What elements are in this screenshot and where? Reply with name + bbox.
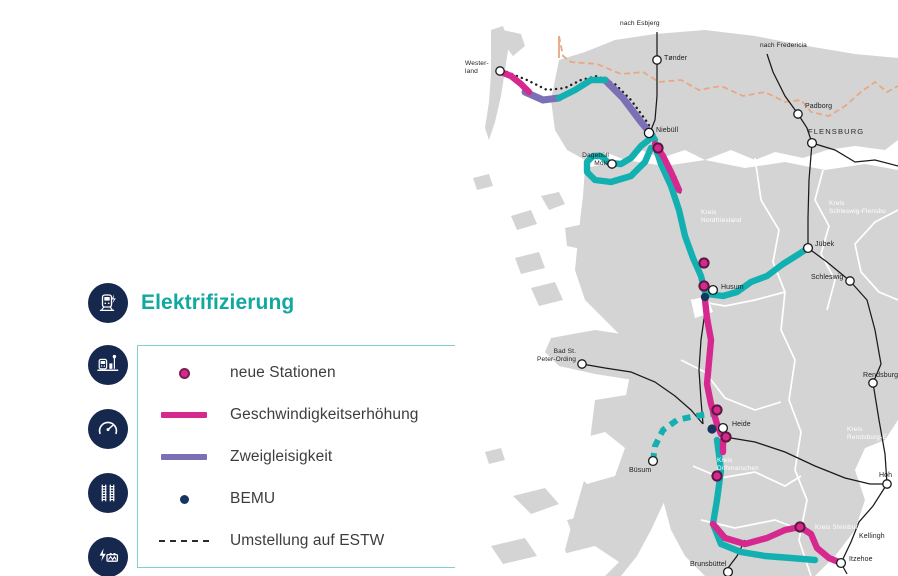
map-label-brunsbuettel: Brunsbüttel [690, 561, 727, 569]
icon-rail [88, 345, 128, 576]
map-label-buesum: Büsum [629, 467, 651, 475]
station-platform-icon[interactable] [88, 345, 128, 385]
map-label-hohenwestedt: Hoh [879, 472, 892, 480]
new-station-marker-icon [138, 368, 230, 379]
speedometer-icon[interactable] [88, 409, 128, 449]
legend-item-neue-stationen: neue Stationen [138, 352, 458, 394]
map-label-westerland: Wester-land [465, 60, 489, 75]
map-label-tonder: Tønder [664, 55, 687, 63]
map-label-husum: Husum [721, 284, 744, 292]
map-label-rendsburg: Rendsburg [863, 372, 898, 380]
section-title-row: Elektrifizierung [88, 283, 294, 323]
legend-label: Umstellung auf ESTW [230, 532, 384, 550]
train-electric-icon [88, 283, 128, 323]
estw-dashed-marker-icon [138, 540, 230, 542]
double-track-icon[interactable] [88, 473, 128, 513]
landmass-layer [473, 26, 898, 576]
map-label-kreis-schleswig-flensburg: KreisSchleswig-Flensbu [829, 200, 886, 215]
map-label-nach-esbjerg: nach Esbjerg [620, 20, 660, 28]
map-region[interactable]: Wester-land Tønder Niebüll DagebüllMole … [455, 0, 898, 576]
page-title: Elektrifizierung [141, 291, 294, 315]
map-label-niebuell: Niebüll [656, 127, 678, 135]
legend-item-geschwindigkeitserhoehung: Geschwindigkeitserhöhung [138, 394, 458, 436]
legend-label: BEMU [230, 490, 275, 508]
map-label-kreis-rendsburg-eckernfoerde: KreisRendsburg-E [847, 426, 887, 441]
map-label-kellinghusen: Kellingh [859, 533, 885, 541]
double-track-line-marker-icon [138, 454, 230, 460]
map-label-kreis-dithmarschen: KreisDithmarschen [717, 457, 759, 472]
map-label-nach-fredericia: nach Fredericia [760, 42, 807, 50]
legend-item-estw: Umstellung auf ESTW [138, 520, 458, 562]
map-label-juebek: Jübek [815, 241, 834, 249]
map-label-itzehoe: Itzehoe [849, 556, 873, 564]
legend-box: neue Stationen Geschwindigkeitserhöhung … [137, 345, 457, 568]
legend-item-bemu: BEMU [138, 478, 458, 520]
map-label-flensburg: FLENSBURG [808, 128, 864, 137]
battery-bolt-icon[interactable] [88, 537, 128, 576]
map-label-heide: Heide [732, 421, 751, 429]
bemu-marker-icon [138, 495, 230, 504]
left-panel: Elektrifizierung [0, 0, 470, 576]
map-label-dagebuell-mole: DagebüllMole [569, 152, 609, 167]
legend-item-zweigleisigkeit: Zweigleisigkeit [138, 436, 458, 478]
screenshot-root: Elektrifizierung und Ausbau in Schleswig… [0, 0, 898, 576]
map-label-bad-st-peter-ording: Bad St.Peter-Ording [521, 348, 576, 363]
map-label-schleswig: Schleswig [811, 274, 843, 282]
map-label-padborg: Padborg [805, 103, 832, 111]
map-label-kreis-nordfriesland: KreisNordfriesland [701, 209, 742, 224]
map-svg [455, 0, 898, 576]
legend-label: Zweigleisigkeit [230, 448, 332, 466]
legend-label: neue Stationen [230, 364, 336, 382]
map-label-kreis-steinburg: Kreis Steinburg [815, 524, 862, 532]
speed-line-marker-icon [138, 412, 230, 418]
legend-label: Geschwindigkeitserhöhung [230, 406, 419, 424]
